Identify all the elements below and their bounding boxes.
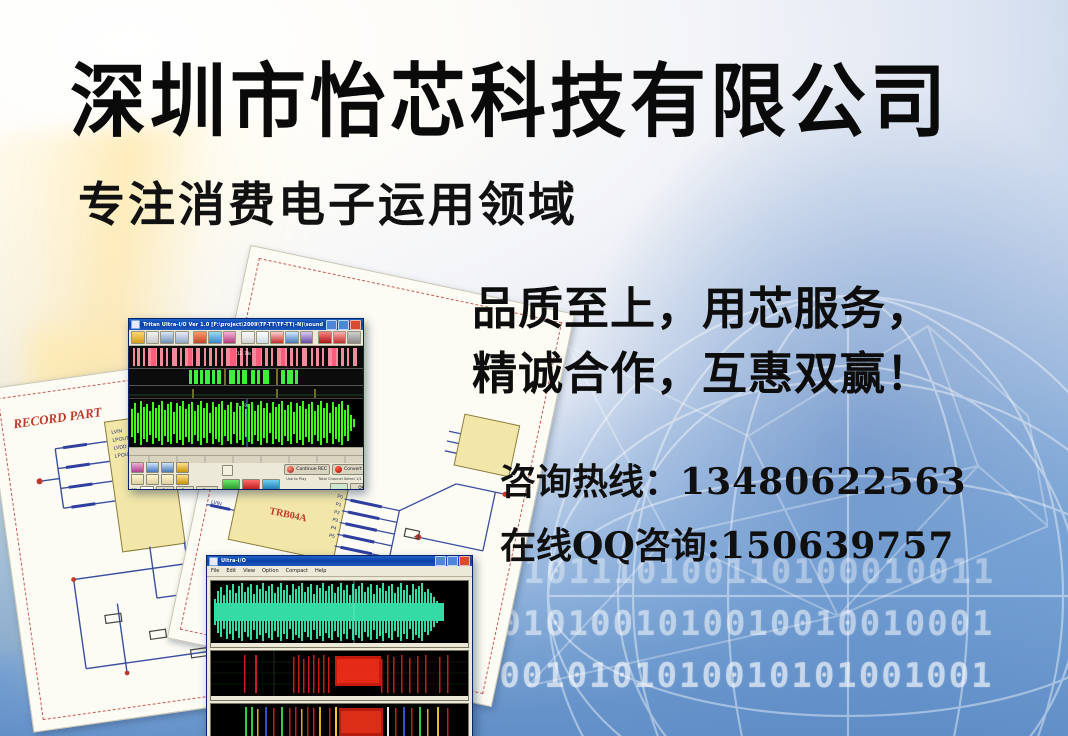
tool-redo-icon[interactable] xyxy=(146,474,159,485)
menu-item-help[interactable]: Help xyxy=(315,568,326,574)
close-icon[interactable] xyxy=(350,320,361,330)
window-titlebar[interactable]: Tritan Ultra-I/O Ver 1.0 [F:\project\200… xyxy=(129,319,363,330)
advertisement-banner: 110101110100110100010011 010101001010010… xyxy=(0,0,1068,736)
svg-text:12.78s: 12.78s xyxy=(237,351,252,356)
spectrum-icon[interactable] xyxy=(300,331,314,344)
green-bar-track-panel[interactable] xyxy=(129,369,363,386)
tool-copy-icon[interactable] xyxy=(161,462,174,473)
window-controls-2[interactable] xyxy=(435,556,470,566)
cut-icon[interactable] xyxy=(241,331,255,344)
svg-text:7.79s: 7.79s xyxy=(237,403,250,408)
toolbar[interactable] xyxy=(129,330,363,346)
play-button[interactable] xyxy=(222,479,240,491)
tool-grid[interactable]: SEL Sel Rev Clear xyxy=(131,462,218,491)
spectrum-panel-multi[interactable] xyxy=(210,703,469,736)
export-icon[interactable] xyxy=(208,331,222,344)
save-as-icon[interactable] xyxy=(175,331,189,344)
minimize-icon[interactable] xyxy=(326,320,337,330)
data-track-panel[interactable]: 12.78s xyxy=(129,346,363,369)
slogan-line-2: 精诚合作，互惠双赢！ xyxy=(472,341,932,406)
convert-rec-label: Convert REC xyxy=(344,467,364,472)
panels-container: ◄ ► xyxy=(207,577,472,736)
spectrum-panel-red[interactable] xyxy=(210,650,469,701)
marker-track-panel[interactable] xyxy=(129,386,363,399)
rec-buttons-group[interactable]: Continue REC Convert REC Use to Play Tot… xyxy=(284,464,364,490)
close-icon[interactable] xyxy=(459,556,470,566)
convert-dot-icon xyxy=(335,466,342,473)
channel-select-input[interactable] xyxy=(330,483,348,490)
properties-icon[interactable] xyxy=(223,331,237,344)
play-icon[interactable] xyxy=(333,331,347,344)
slogan-block: 品质至上，用芯服务， 精诚合作，互惠双赢！ xyxy=(472,276,932,406)
app-icon xyxy=(131,320,140,329)
waveform-panel-teal[interactable] xyxy=(210,580,469,648)
contact-block: 咨询热线：13480622563 在线QQ咨询:150639757 xyxy=(500,450,967,578)
hotline-row: 咨询热线：13480622563 xyxy=(500,450,967,514)
convert-rec-button[interactable]: Convert REC xyxy=(332,464,364,475)
save-icon[interactable] xyxy=(160,331,174,344)
stop-button[interactable] xyxy=(242,479,260,491)
hotline-number: 13480622563 xyxy=(680,461,967,503)
stop-all-icon[interactable] xyxy=(222,465,233,476)
sel-label: SEL xyxy=(131,488,138,491)
menu-bar[interactable]: File Edit View Option Compact Help xyxy=(207,566,472,577)
window-title: Tritan Ultra-I/O Ver 1.0 [F:\project\200… xyxy=(143,322,323,328)
convert-rec-sub: Total Channel Select 1/1 xyxy=(318,477,361,481)
waveform-panel-green[interactable]: 7.79s xyxy=(129,399,363,447)
tool-undo-icon[interactable] xyxy=(131,474,144,485)
slogan-line-1: 品质至上，用芯服务， xyxy=(472,276,932,341)
rec-sublabels: Use to Play Total Channel Select 1/1 xyxy=(284,477,364,481)
hotline-label: 咨询热线： xyxy=(500,461,680,503)
btn-sel[interactable]: Sel xyxy=(156,486,174,491)
qq-number: 150639757 xyxy=(720,525,954,567)
open-icon[interactable] xyxy=(131,331,145,344)
minimize-icon[interactable] xyxy=(435,556,446,566)
menu-item-edit[interactable]: Edit xyxy=(226,568,236,574)
maximize-icon[interactable] xyxy=(338,320,349,330)
tool-cut-icon[interactable] xyxy=(131,462,144,473)
page-title: 深圳市怡芯科技有限公司 xyxy=(70,36,950,153)
btn-clear[interactable]: Clear xyxy=(196,486,218,491)
continue-rec-button[interactable]: Continue REC xyxy=(284,464,330,475)
window-controls[interactable] xyxy=(326,320,361,330)
qq-row: 在线QQ咨询:150639757 xyxy=(500,514,967,578)
window-title-2: Ultra-I/O xyxy=(221,558,432,564)
time-scale-strip xyxy=(129,447,363,456)
menu-item-option[interactable]: Option xyxy=(262,568,279,574)
page-subtitle: 专注消费电子运用领域 xyxy=(78,166,578,235)
window-titlebar-2[interactable]: Ultra-I/O xyxy=(207,556,472,566)
menu-item-view[interactable]: View xyxy=(243,568,255,574)
erase-icon[interactable] xyxy=(256,331,270,344)
tool-mark-icon[interactable] xyxy=(176,474,189,485)
sel-input[interactable] xyxy=(140,486,154,491)
record-dot-icon xyxy=(287,466,294,473)
software-window-ultra-io[interactable]: Ultra-I/O File Edit View Option Compact … xyxy=(206,555,473,736)
maximize-icon[interactable] xyxy=(447,556,458,566)
software-window-tritan[interactable]: Tritan Ultra-I/O Ver 1.0 [F:\project\200… xyxy=(128,318,364,490)
btn-rev[interactable]: Rev xyxy=(176,486,194,491)
transport-group[interactable] xyxy=(222,465,280,491)
stop-icon[interactable] xyxy=(347,331,361,344)
tool-move-icon[interactable] xyxy=(146,462,159,473)
tool-star-icon[interactable] xyxy=(176,462,189,473)
zoom-icon[interactable] xyxy=(270,331,284,344)
new-icon[interactable] xyxy=(146,331,160,344)
qq-label: 在线QQ咨询: xyxy=(500,525,720,567)
continue-rec-sub: Use to Play xyxy=(286,477,306,481)
menu-item-file[interactable]: File xyxy=(211,568,219,574)
record-icon[interactable] xyxy=(318,331,332,344)
loop-button[interactable] xyxy=(262,479,280,491)
tool-insert-icon[interactable] xyxy=(161,474,174,485)
import-icon[interactable] xyxy=(193,331,207,344)
menu-item-compact[interactable]: Compact xyxy=(286,568,308,574)
continue-rec-label: Continue REC xyxy=(296,467,327,472)
waveform-icon[interactable] xyxy=(285,331,299,344)
ok-button[interactable]: OK xyxy=(350,483,364,490)
app-icon xyxy=(209,557,218,566)
